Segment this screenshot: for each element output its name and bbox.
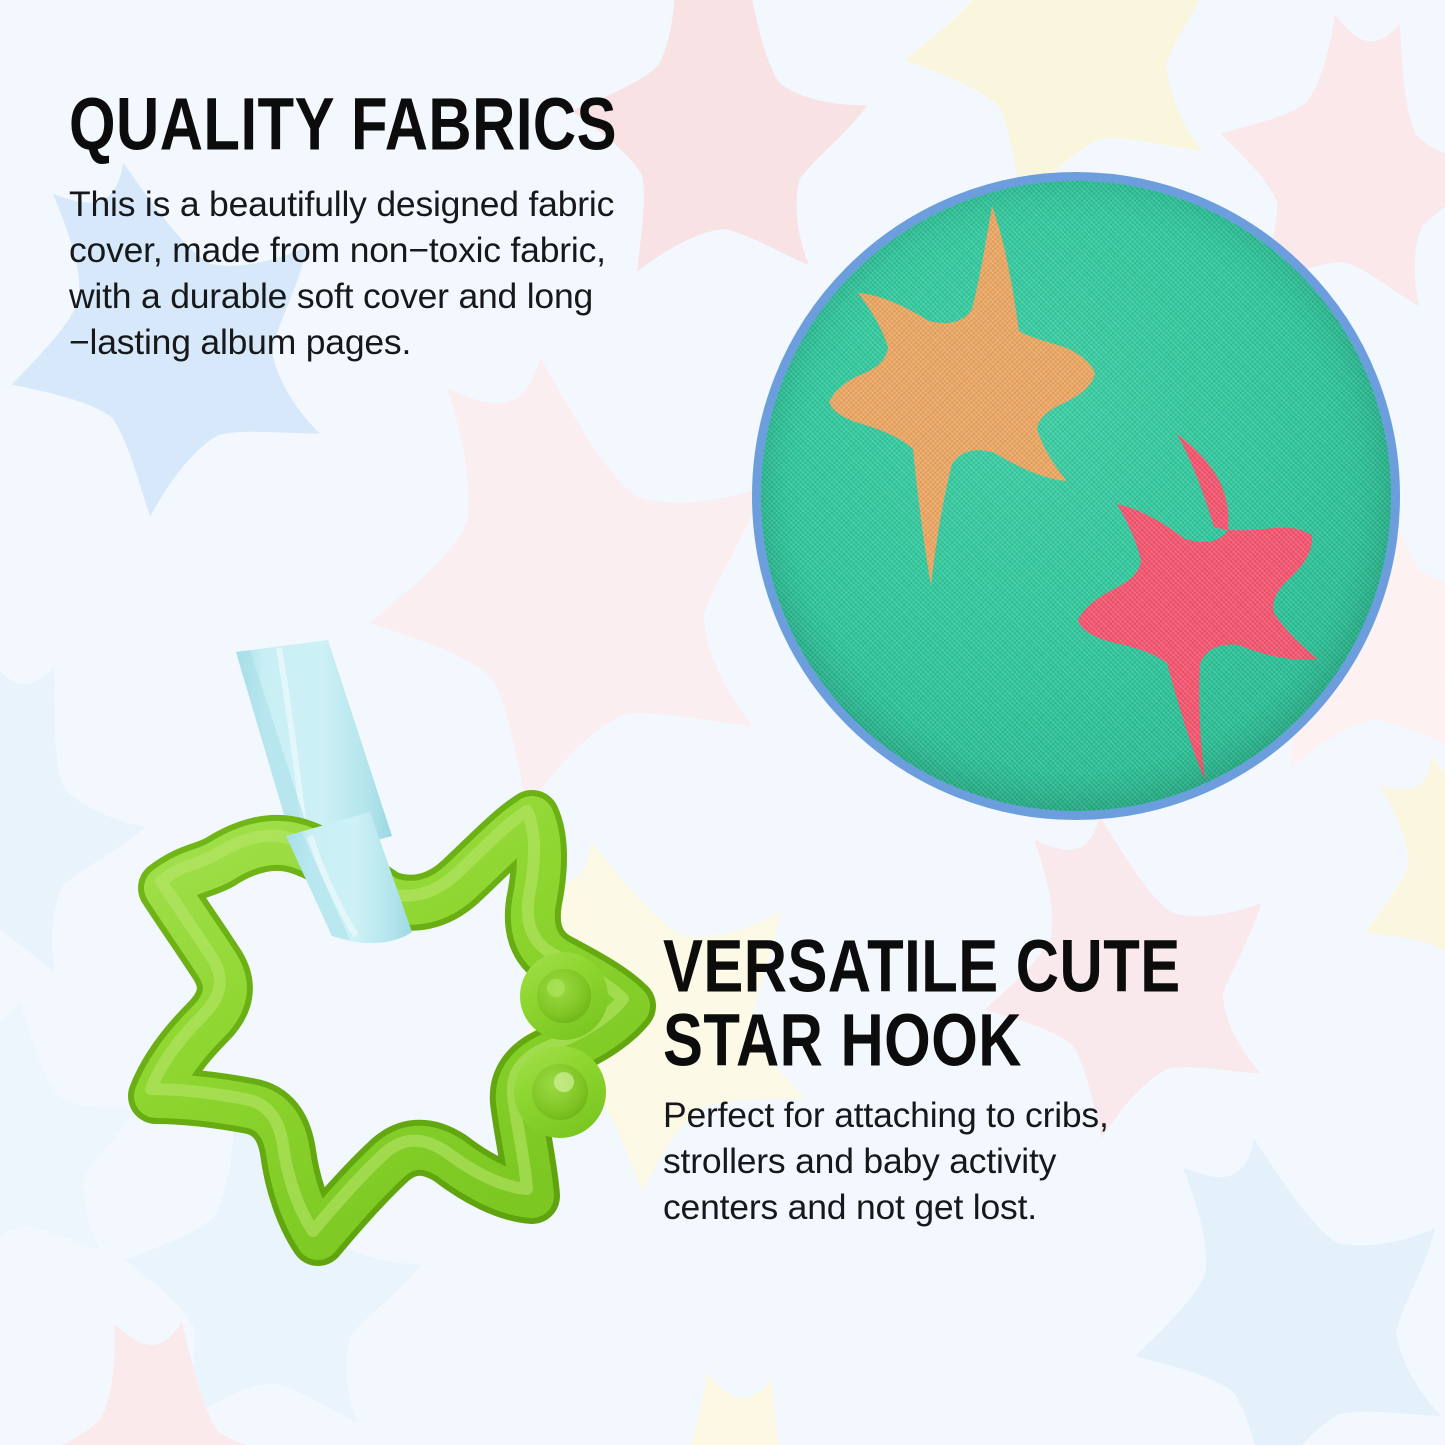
clasp-knob-lower: [532, 1064, 588, 1120]
star-hook-image: [40, 640, 660, 1400]
quality-fabrics-heading: QUALITY FABRICS: [69, 88, 715, 162]
star-hook-graphic: [40, 640, 660, 1400]
fabric-swatch-image: [752, 172, 1400, 820]
fabric-swatch-stars: [761, 181, 1391, 811]
clasp-knob-upper: [537, 969, 591, 1023]
fabric-green-base: [761, 181, 1391, 811]
star-hook-body: Perfect for attaching to cribs, stroller…: [663, 1092, 1403, 1230]
star-hook-heading: VERSATILE CUTE STAR HOOK: [663, 930, 1366, 1079]
quality-fabrics-section: QUALITY FABRICS This is a beautifully de…: [69, 88, 749, 366]
infographic-canvas: QUALITY FABRICS This is a beautifully de…: [0, 0, 1445, 1445]
quality-fabrics-body: This is a beautifully designed fabric co…: [69, 181, 749, 366]
star-hook-section: VERSATILE CUTE STAR HOOK Perfect for att…: [663, 930, 1403, 1230]
